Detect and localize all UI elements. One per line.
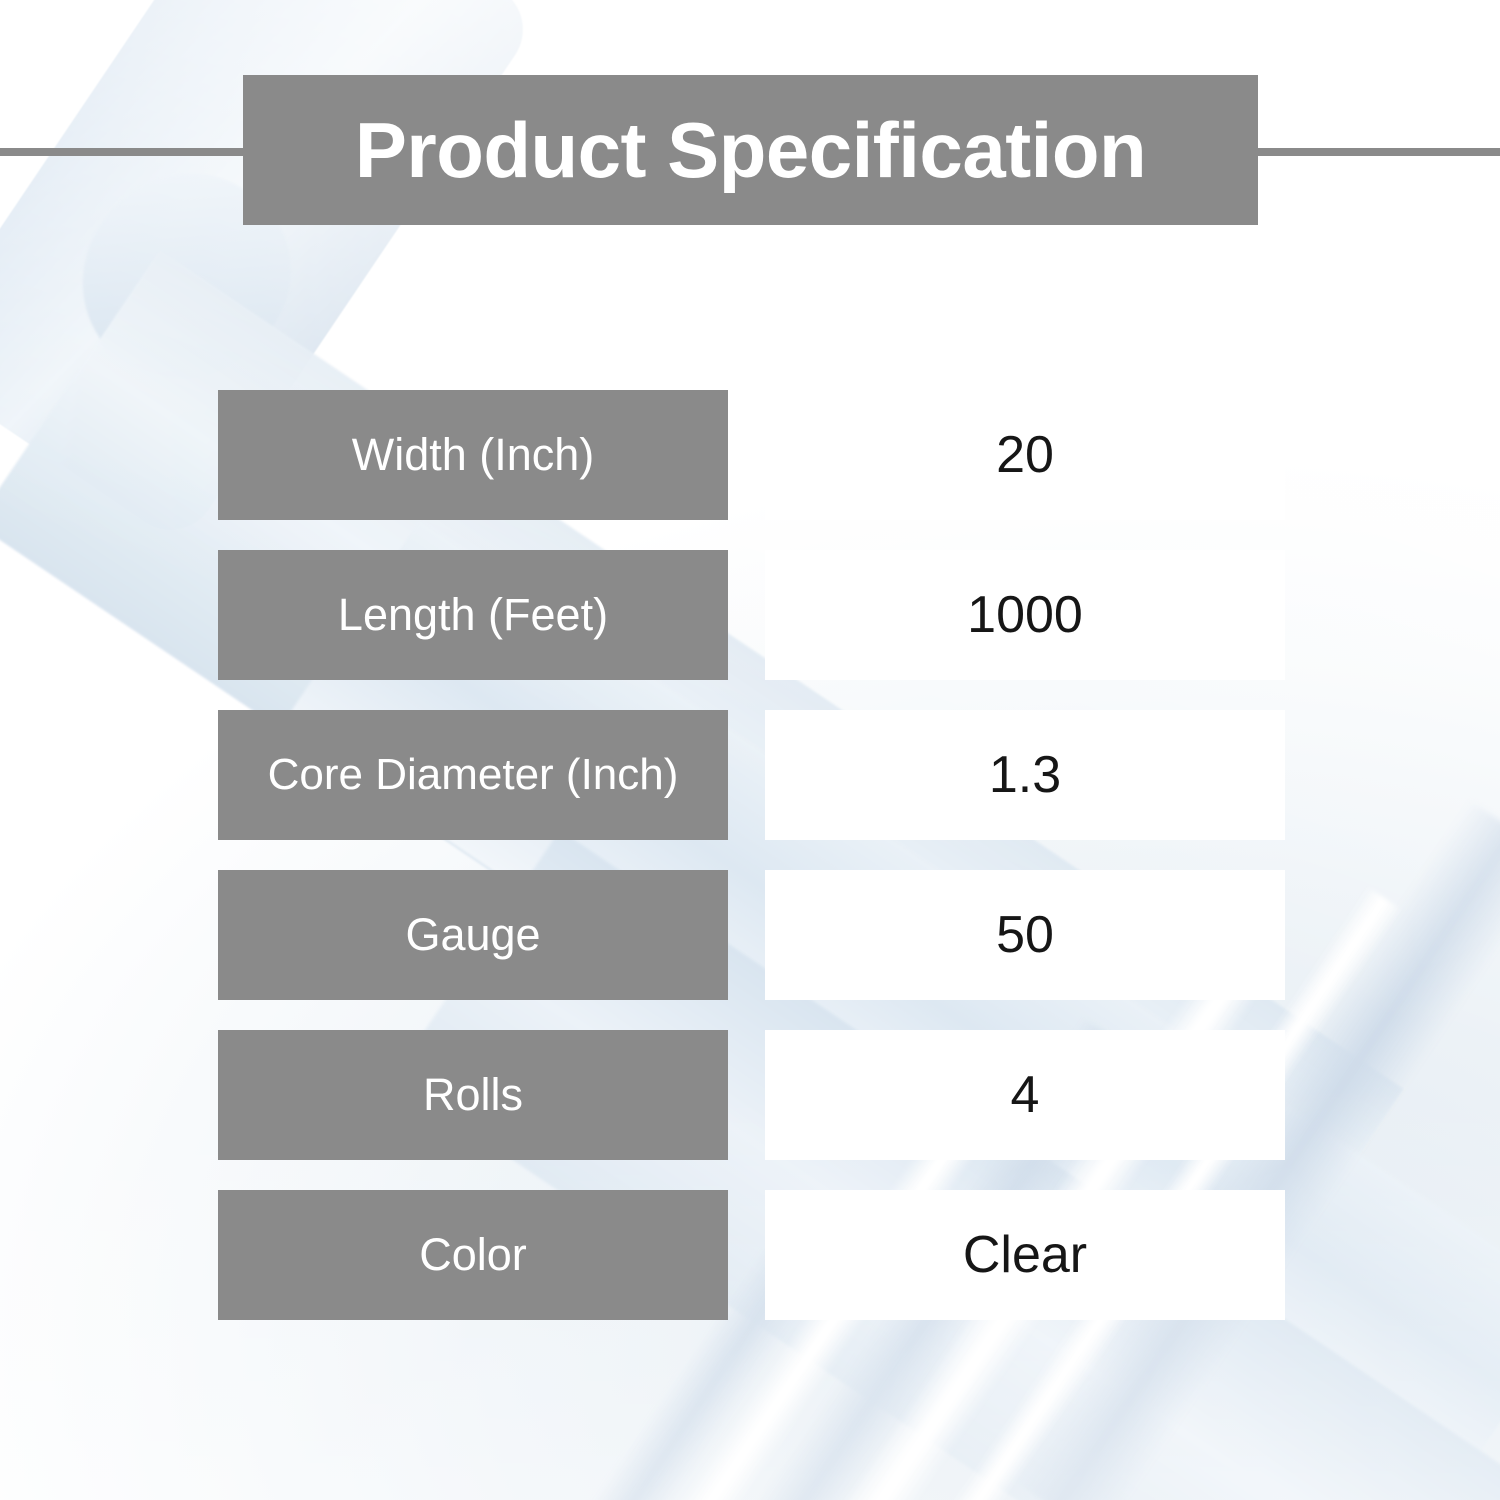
spec-label-width: Width (Inch) <box>218 390 728 520</box>
spec-label-length: Length (Feet) <box>218 550 728 680</box>
table-row: Rolls 4 <box>0 1030 1500 1160</box>
spec-label-core-diameter: Core Diameter (Inch) <box>218 710 728 840</box>
table-row: Core Diameter (Inch) 1.3 <box>0 710 1500 840</box>
spec-value-length: 1000 <box>765 550 1285 680</box>
spec-value-width: 20 <box>765 390 1285 520</box>
spec-label-gauge: Gauge <box>218 870 728 1000</box>
page-title: Product Specification <box>355 111 1146 189</box>
spec-label-color: Color <box>218 1190 728 1320</box>
title-banner: Product Specification <box>243 75 1258 225</box>
table-row: Width (Inch) 20 <box>0 390 1500 520</box>
specification-table: Width (Inch) 20 Length (Feet) 1000 Core … <box>0 390 1500 1350</box>
spec-value-core-diameter: 1.3 <box>765 710 1285 840</box>
spec-value-rolls: 4 <box>765 1030 1285 1160</box>
table-row: Color Clear <box>0 1190 1500 1320</box>
spec-value-color: Clear <box>765 1190 1285 1320</box>
spec-value-gauge: 50 <box>765 870 1285 1000</box>
spec-label-rolls: Rolls <box>218 1030 728 1160</box>
table-row: Length (Feet) 1000 <box>0 550 1500 680</box>
product-specification-card: Product Specification Width (Inch) 20 Le… <box>0 0 1500 1500</box>
table-row: Gauge 50 <box>0 870 1500 1000</box>
